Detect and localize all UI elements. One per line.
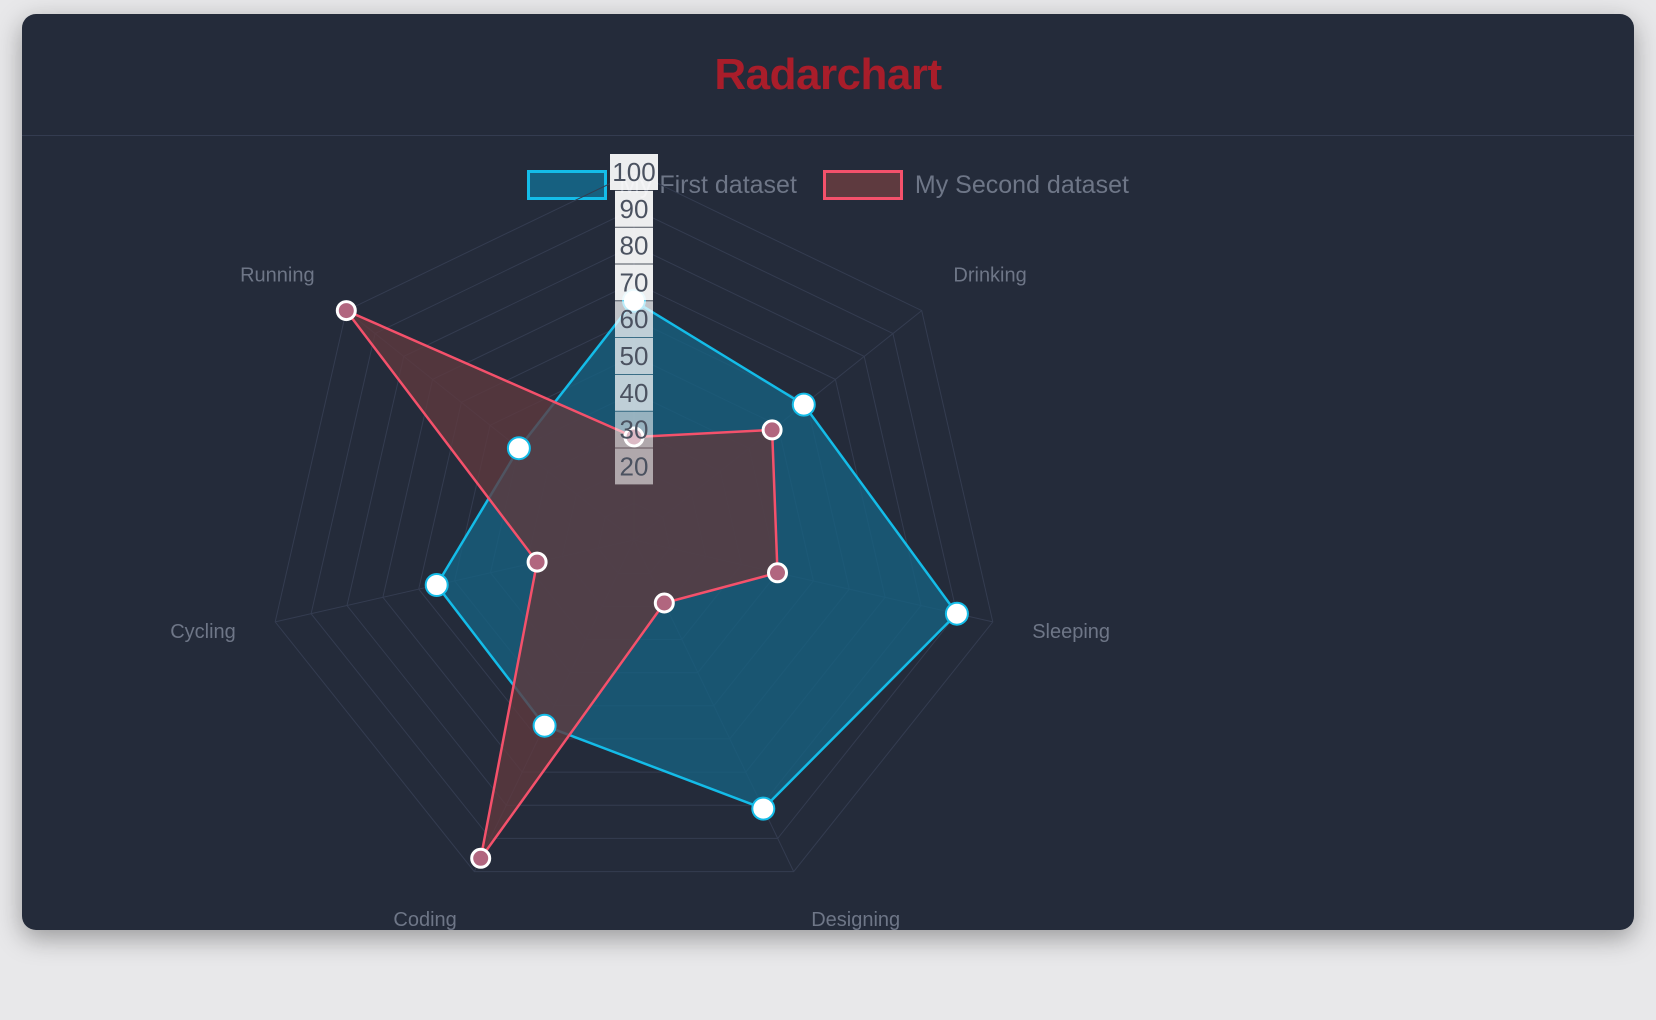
radial-tick-30: 30: [620, 415, 649, 445]
data-point[interactable]: [534, 715, 556, 737]
axis-label-designing: Designing: [811, 909, 900, 930]
chart-body: My First dataset My Second dataset Eatin…: [22, 136, 1634, 930]
data-point[interactable]: [337, 302, 355, 320]
radial-tick-labels: 2030405060708090100: [610, 154, 658, 484]
data-point[interactable]: [655, 594, 673, 612]
radial-tick-40: 40: [620, 378, 649, 408]
window-header: Radarchart: [22, 14, 1634, 136]
data-point[interactable]: [946, 603, 968, 625]
data-point[interactable]: [508, 437, 530, 459]
radial-tick-50: 50: [620, 341, 649, 371]
radial-tick-70: 70: [620, 267, 649, 297]
radar-chart-svg[interactable]: EatingDrinkingSleepingDesigningCodingCyc…: [22, 136, 1634, 930]
axis-label-coding: Coding: [393, 909, 456, 930]
axis-label-cycling: Cycling: [170, 621, 236, 643]
data-point[interactable]: [793, 394, 815, 416]
data-point[interactable]: [769, 564, 787, 582]
radial-tick-100: 100: [612, 157, 655, 187]
page-title: Radarchart: [714, 50, 941, 100]
radial-tick-20: 20: [620, 451, 649, 481]
data-point[interactable]: [426, 574, 448, 596]
axis-label-running: Running: [240, 264, 315, 286]
axis-label-drinking: Drinking: [953, 264, 1026, 286]
radial-tick-80: 80: [620, 231, 649, 261]
radar-chart[interactable]: EatingDrinkingSleepingDesigningCodingCyc…: [22, 136, 1634, 930]
axis-label-sleeping: Sleeping: [1032, 621, 1110, 643]
radial-tick-60: 60: [620, 304, 649, 334]
radial-tick-90: 90: [620, 194, 649, 224]
data-point[interactable]: [528, 553, 546, 571]
data-point[interactable]: [752, 798, 774, 820]
radarchart-window: Radarchart My First dataset My Second da…: [22, 14, 1634, 930]
data-point[interactable]: [763, 421, 781, 439]
data-point[interactable]: [472, 849, 490, 867]
